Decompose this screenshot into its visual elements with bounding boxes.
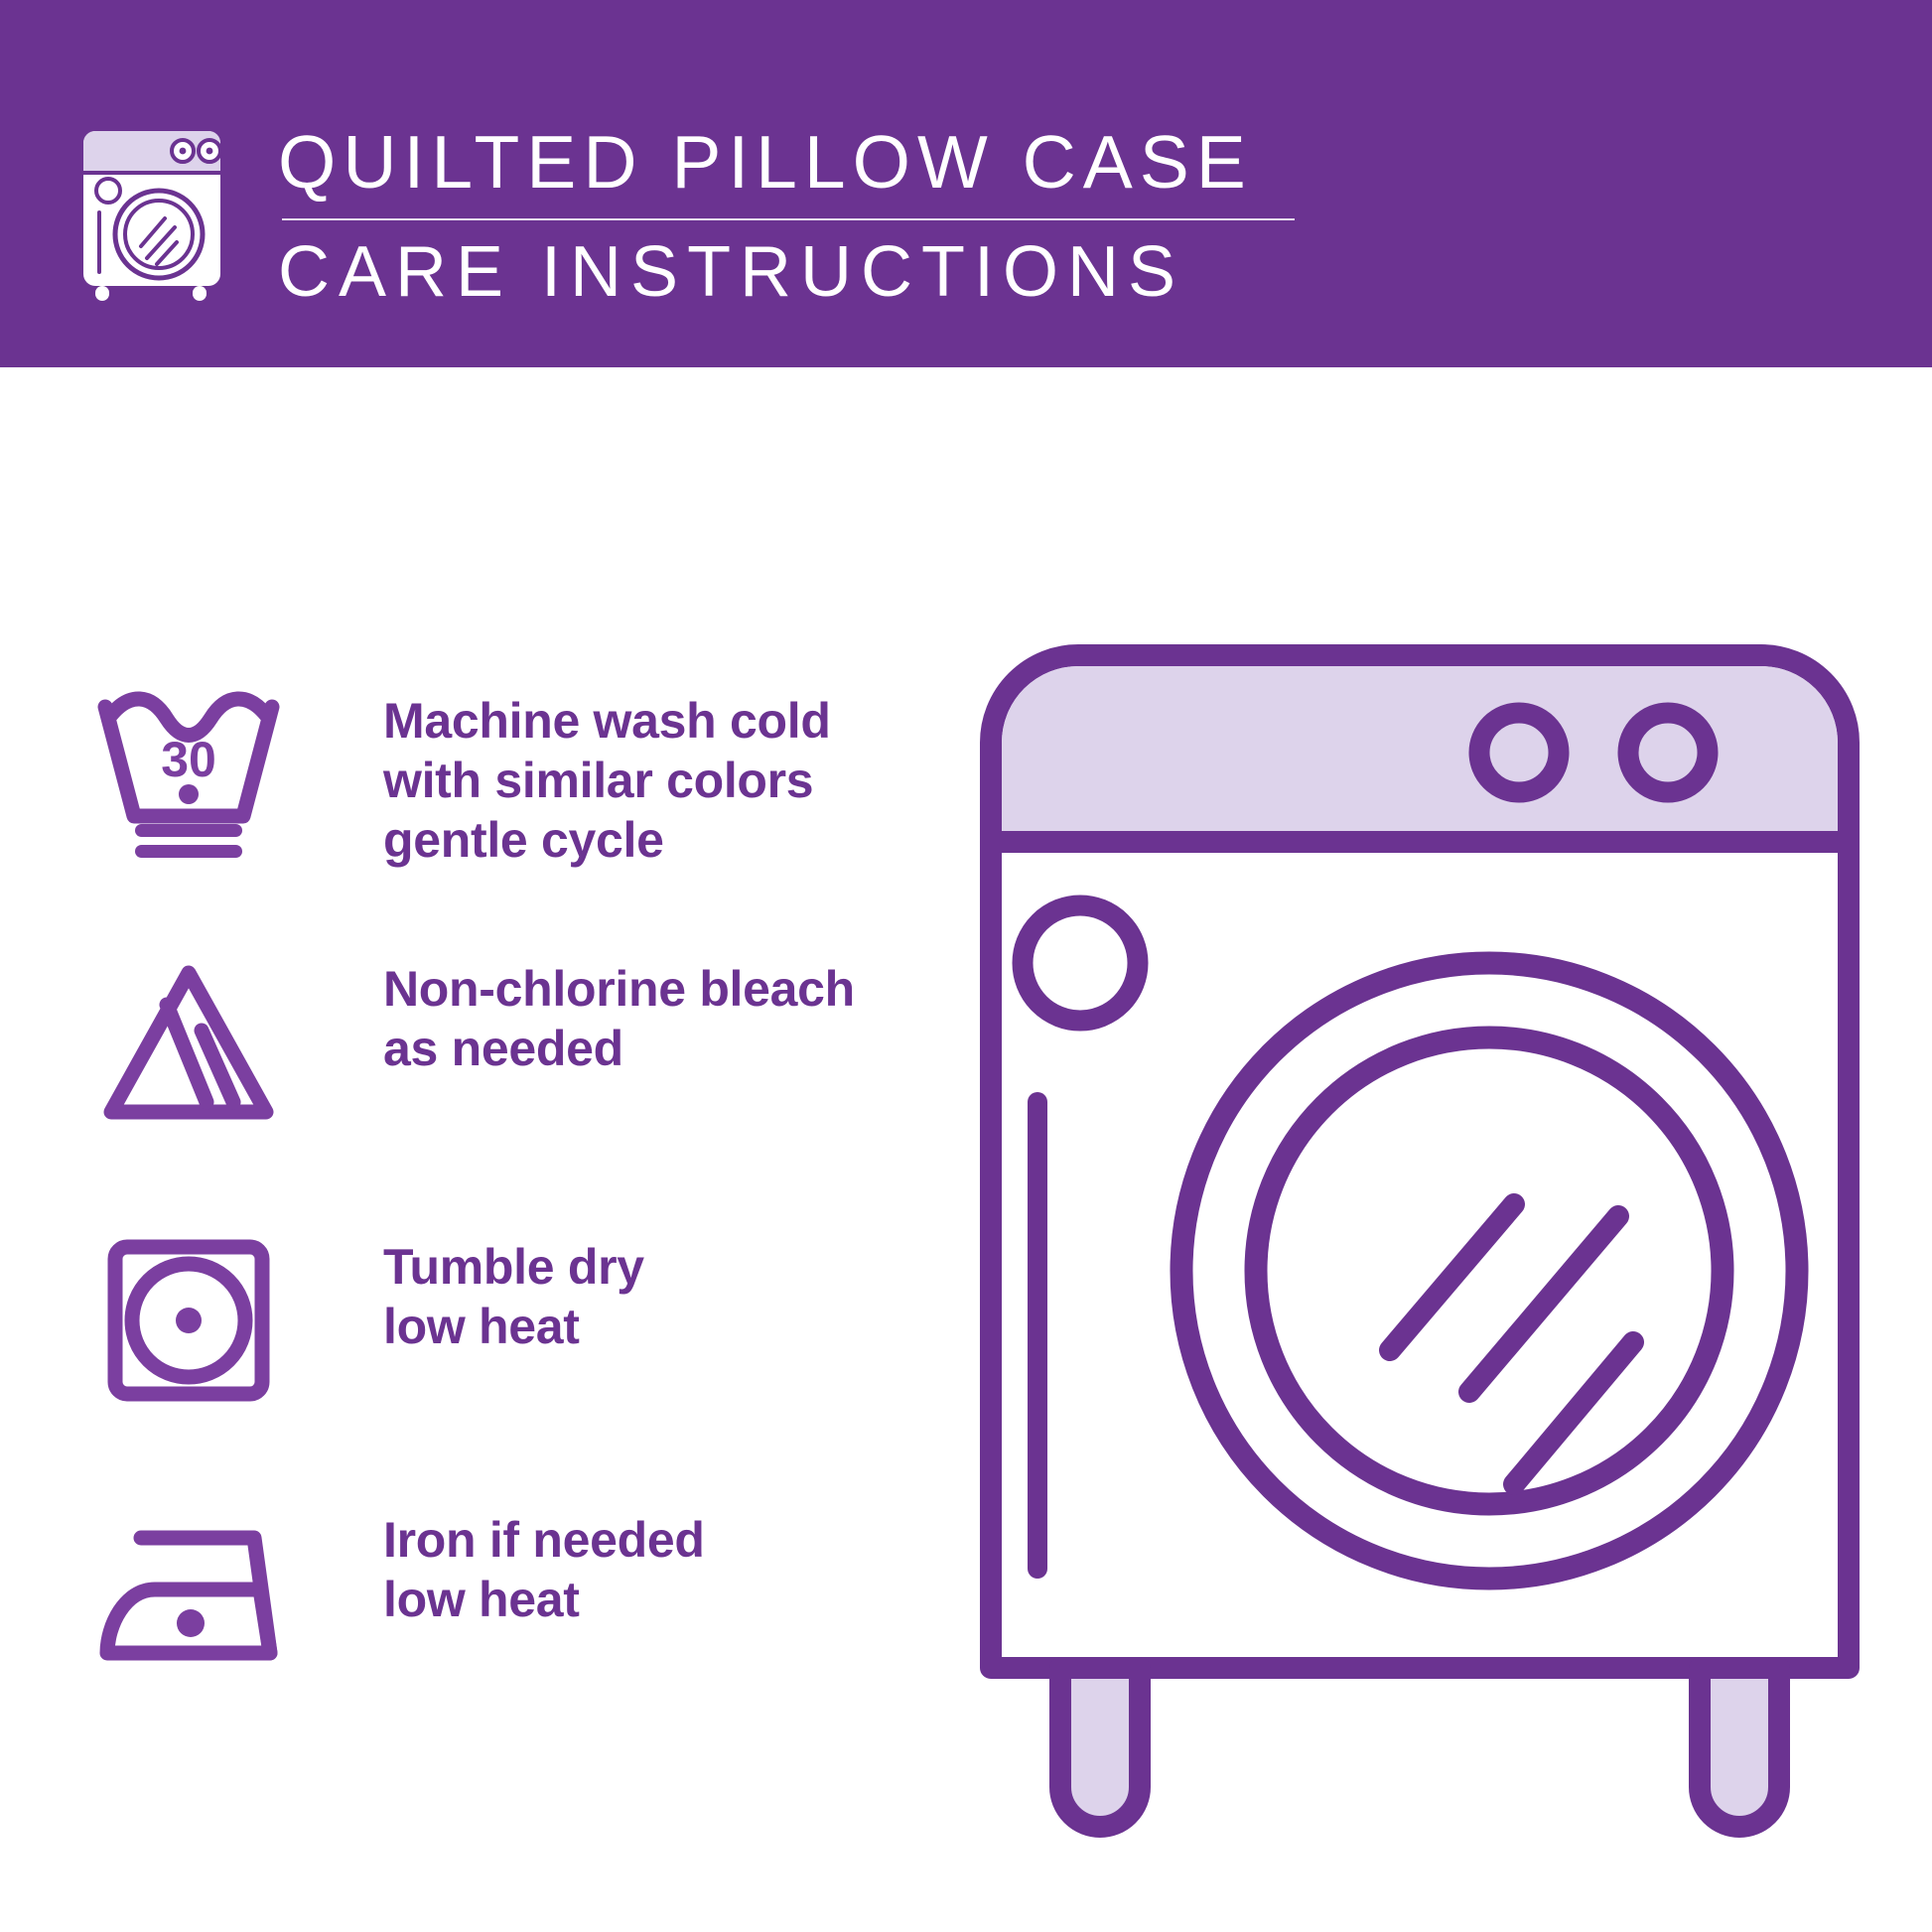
wash-temperature-label: 30 bbox=[161, 732, 216, 787]
care-line: gentle cycle bbox=[383, 810, 831, 870]
care-item-tumble-dry-text: Tumble dry low heat bbox=[383, 1231, 644, 1356]
care-item-bleach: Non-chlorine bleach as needed bbox=[89, 953, 855, 1132]
page-subtitle: CARE INSTRUCTIONS bbox=[278, 232, 1330, 312]
care-item-bleach-text: Non-chlorine bleach as needed bbox=[383, 953, 855, 1078]
care-instructions-page: QUILTED PILLOW CASE CARE INSTRUCTIONS 30 bbox=[0, 0, 1932, 1932]
page-title: QUILTED PILLOW CASE bbox=[278, 119, 1330, 205]
care-line: Iron if needed bbox=[383, 1510, 705, 1570]
care-line: Tumble dry bbox=[383, 1237, 644, 1297]
iron-icon bbox=[89, 1504, 298, 1683]
header-banner: QUILTED PILLOW CASE CARE INSTRUCTIONS bbox=[0, 0, 1932, 367]
care-line: low heat bbox=[383, 1570, 705, 1629]
care-item-iron-text: Iron if needed low heat bbox=[383, 1504, 705, 1629]
care-item-wash-text: Machine wash cold with similar colors ge… bbox=[383, 685, 831, 870]
care-line: with similar colors bbox=[383, 751, 831, 810]
washing-machine-illustration bbox=[973, 635, 1866, 1886]
care-item-iron: Iron if needed low heat bbox=[89, 1504, 705, 1683]
care-line: low heat bbox=[383, 1297, 644, 1356]
care-item-wash: 30 Machine wash cold with similar colors… bbox=[89, 685, 831, 870]
care-item-tumble-dry: Tumble dry low heat bbox=[89, 1231, 644, 1410]
bleach-triangle-icon bbox=[89, 953, 298, 1132]
wash-tub-icon: 30 bbox=[89, 685, 298, 864]
tumble-dry-icon bbox=[89, 1231, 298, 1410]
control-knob-left bbox=[1479, 713, 1559, 792]
care-line: Non-chlorine bleach bbox=[383, 959, 855, 1019]
header-text-block: QUILTED PILLOW CASE CARE INSTRUCTIONS bbox=[278, 119, 1330, 312]
care-line: as needed bbox=[383, 1019, 855, 1078]
care-line: Machine wash cold bbox=[383, 691, 831, 751]
machine-leg-left bbox=[1060, 1668, 1140, 1827]
washing-machine-icon bbox=[77, 127, 226, 301]
title-divider bbox=[282, 218, 1295, 220]
machine-leg-right bbox=[1700, 1668, 1779, 1827]
control-knob-right bbox=[1628, 713, 1708, 792]
